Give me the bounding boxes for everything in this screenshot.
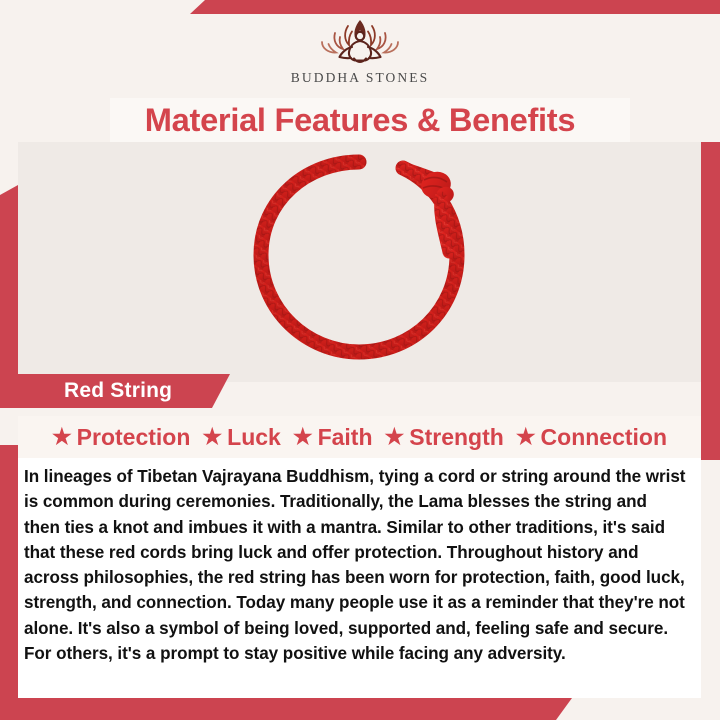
benefits-row: ★ Protection ★ Luck ★ Faith ★ Strength ★… [18, 416, 701, 458]
bottom-decorative-band [0, 698, 720, 720]
brand-name: BUDDHA STONES [291, 70, 429, 86]
material-ribbon-banner: Red String [18, 374, 230, 408]
benefit-item-protection: ★ Protection [46, 424, 196, 451]
left-ribbon-connector [0, 374, 18, 408]
benefit-label: Protection [77, 424, 191, 451]
product-image-panel [18, 142, 701, 382]
infographic-canvas: BUDDHA STONES Material Features & Benefi… [0, 0, 720, 720]
star-icon: ★ [202, 426, 222, 448]
lotus-meditation-icon [308, 14, 412, 68]
star-icon: ★ [516, 426, 536, 448]
benefit-label: Faith [318, 424, 373, 451]
benefit-label: Luck [227, 424, 281, 451]
left-lower-decorative-bar [0, 445, 18, 698]
red-braided-string-bracelet-image [235, 152, 485, 372]
benefit-label: Connection [541, 424, 668, 451]
benefit-item-strength: ★ Strength [379, 424, 510, 451]
benefit-item-luck: ★ Luck [196, 424, 286, 451]
star-icon: ★ [52, 426, 72, 448]
brand-header: BUDDHA STONES [0, 14, 720, 100]
left-decorative-bar [0, 185, 18, 382]
benefit-label: Strength [409, 424, 504, 451]
description-panel: In lineages of Tibetan Vajrayana Buddhis… [18, 458, 701, 698]
title-banner: Material Features & Benefits [0, 98, 720, 142]
benefit-item-faith: ★ Faith [287, 424, 379, 451]
star-icon: ★ [293, 426, 313, 448]
star-icon: ★ [385, 426, 405, 448]
description-text: In lineages of Tibetan Vajrayana Buddhis… [24, 464, 687, 666]
top-decorative-band [0, 0, 720, 14]
page-title: Material Features & Benefits [145, 102, 575, 139]
material-name: Red String [18, 379, 172, 403]
right-decorative-bar [701, 142, 720, 460]
benefit-item-connection: ★ Connection [510, 424, 673, 451]
